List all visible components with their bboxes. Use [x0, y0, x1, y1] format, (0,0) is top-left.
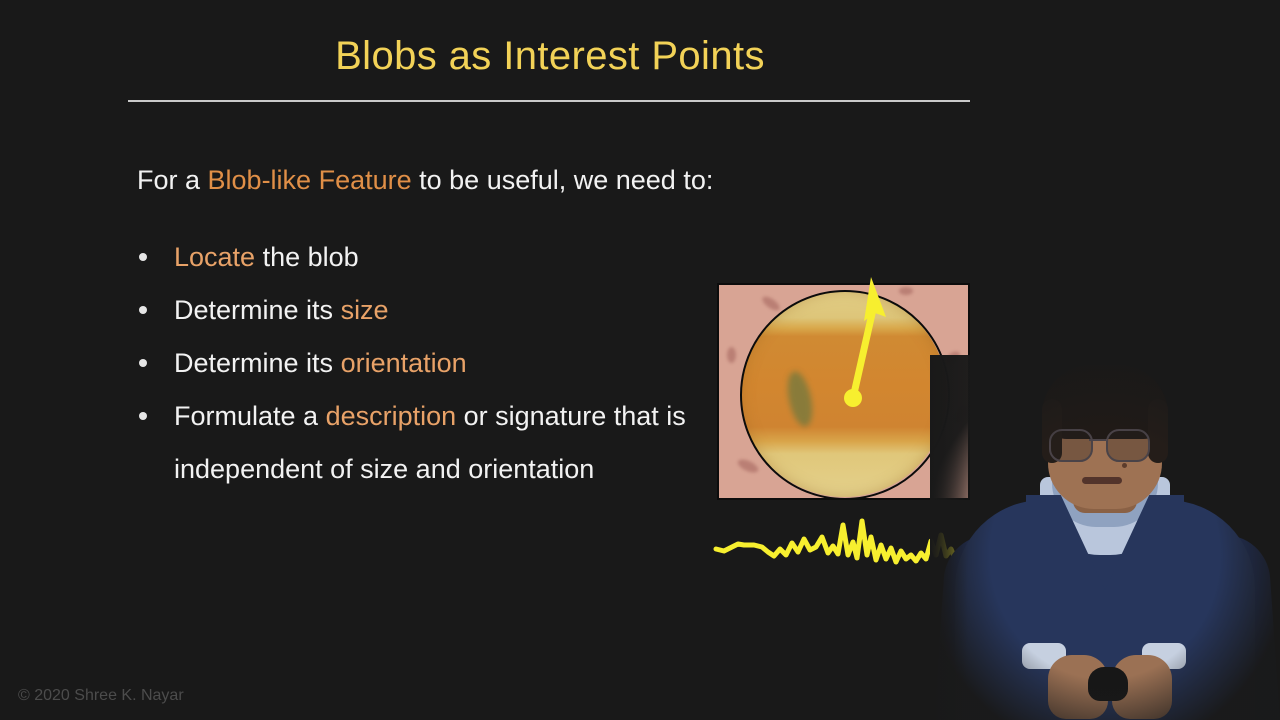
bullet-list: Locate the blobDetermine its sizeDetermi…	[137, 231, 697, 496]
bullet-item-4: Formulate a description or signature tha…	[137, 390, 697, 496]
bullet-item-1: Locate the blob	[137, 231, 697, 284]
glasses-right-lens	[1106, 429, 1150, 462]
presenter-figure	[930, 355, 1280, 720]
presenter-mole	[1122, 463, 1127, 468]
glasses-bridge	[1089, 439, 1106, 441]
glasses-left-lens	[1049, 429, 1093, 462]
copyright-notice: © 2020 Shree K. Nayar	[18, 687, 184, 705]
lead-sentence: For a Blob-like Feature to be useful, we…	[137, 165, 713, 196]
bullet-marker	[139, 359, 147, 367]
presentation-clicker	[1088, 667, 1128, 701]
bullet-item-3: Determine its orientation	[137, 337, 697, 390]
lead-after: to be useful, we need to:	[412, 165, 714, 195]
bullet-keyword: size	[341, 295, 389, 325]
blob-center-dot	[844, 389, 862, 407]
bullet-plain: the blob	[255, 242, 359, 272]
bullet-keyword: description	[326, 401, 457, 431]
bullet-item-2: Determine its size	[137, 284, 697, 337]
presenter-video-overlay	[930, 355, 1280, 720]
bullet-plain: Determine its	[174, 295, 341, 325]
bullet-marker	[139, 412, 147, 420]
bullet-text: Determine its size	[174, 284, 697, 337]
bullet-plain: Determine its	[174, 348, 341, 378]
bullet-text: Locate the blob	[174, 231, 697, 284]
bullet-marker	[139, 253, 147, 261]
slide-canvas: Blobs as Interest Points For a Blob-like…	[0, 0, 1280, 720]
bullet-keyword: Locate	[174, 242, 255, 272]
bullet-marker	[139, 306, 147, 314]
bullet-plain: Formulate a	[174, 401, 326, 431]
lead-before: For a	[137, 165, 208, 195]
bullet-text: Determine its orientation	[174, 337, 697, 390]
lead-highlight: Blob-like Feature	[208, 165, 412, 195]
presenter-hair-right	[1148, 399, 1168, 463]
page-title: Blobs as Interest Points	[0, 34, 1100, 79]
title-divider	[128, 100, 970, 102]
bullet-keyword: orientation	[341, 348, 467, 378]
presenter-mouth	[1082, 477, 1122, 484]
bullet-text: Formulate a description or signature tha…	[174, 390, 697, 496]
